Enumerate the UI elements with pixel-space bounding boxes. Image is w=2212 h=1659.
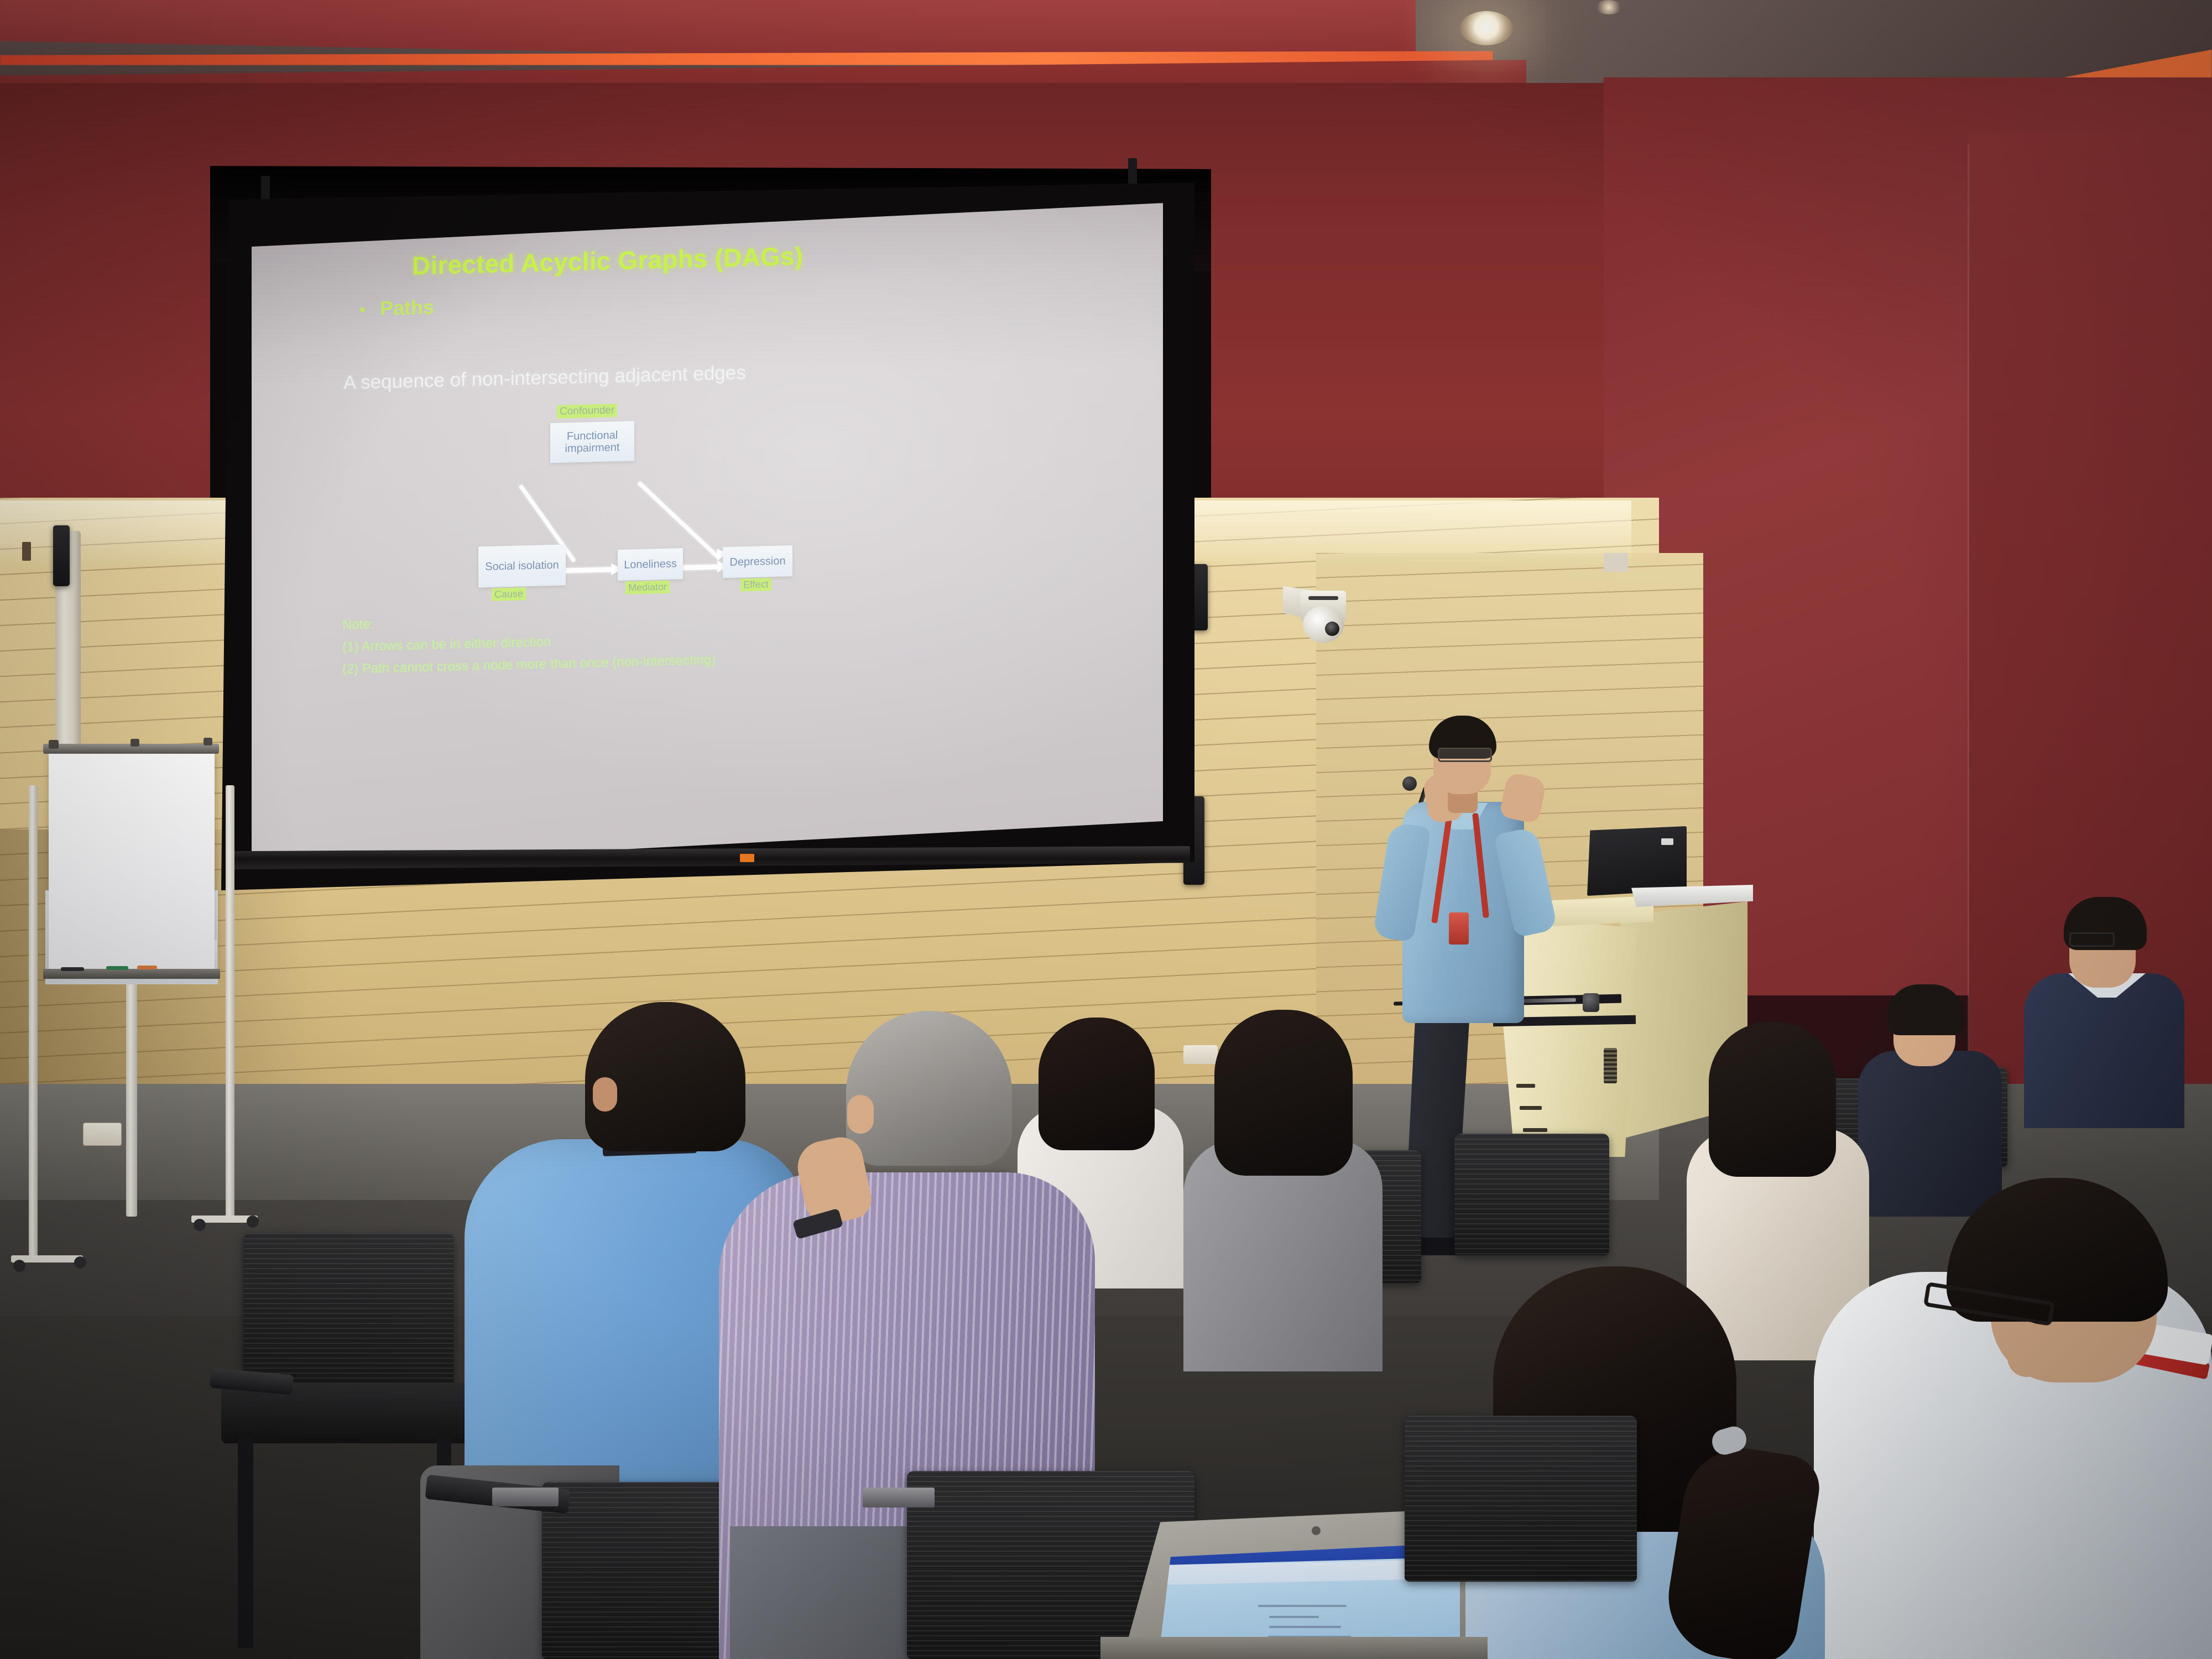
flipchart-caster (13, 1260, 25, 1272)
podium-control-knob[interactable] (1583, 993, 1599, 1012)
glasses-icon (2069, 932, 2115, 947)
flipchart-paper (49, 749, 215, 971)
dag-tag-effect: Effect (740, 578, 771, 591)
flipchart-leg-right (226, 785, 234, 1222)
chair-back[interactable] (1405, 1416, 1637, 1582)
edge-confounder-to-effect (638, 481, 720, 559)
hair (1709, 1022, 1836, 1177)
laptop-webcam-icon (1312, 1526, 1321, 1535)
dag-diagram: Confounder Functional impairment Social … (473, 403, 893, 635)
slide-note-heading: Note: (342, 617, 374, 633)
laptop-keyboard-deck (1100, 1637, 1488, 1659)
wall-switch-plate[interactable] (22, 542, 31, 561)
dag-tag-confounder: Confounder (557, 404, 617, 419)
slide-subtitle: A sequence of non-intersecting adjacent … (343, 362, 746, 394)
dag-node-social-isolation: Social isolation (478, 544, 566, 587)
shoulders (1858, 1051, 2002, 1217)
dag-node-loneliness: Loneliness (618, 548, 683, 581)
camera-lens-icon (1325, 622, 1339, 636)
presenter-badge (1449, 912, 1469, 945)
slide-bullet-marker (360, 307, 365, 312)
flipchart-caster (74, 1256, 86, 1269)
flipchart-clamp-knob[interactable] (49, 740, 59, 749)
chair-bracket (492, 1488, 559, 1506)
podium-vent (1523, 1128, 1547, 1132)
chair-bracket (863, 1488, 935, 1507)
marker-green[interactable] (106, 966, 128, 970)
document-line (1269, 1626, 1341, 1628)
microphone-icon (1402, 776, 1417, 791)
ceiling-downlight (1460, 11, 1513, 45)
dag-tag-mediator: Mediator (625, 581, 670, 594)
hair (585, 1002, 745, 1151)
flipchart-caster (194, 1219, 206, 1231)
chair-back[interactable] (1454, 1134, 1609, 1255)
power-socket[interactable] (83, 1123, 122, 1146)
document-line (1269, 1616, 1319, 1618)
flipchart-leg-left (29, 785, 38, 1261)
ear (593, 1077, 617, 1112)
hair (1887, 984, 1964, 1035)
podium-vent (1520, 1106, 1542, 1110)
power-socket[interactable] (1183, 1045, 1218, 1064)
flipchart-clamp-knob[interactable] (204, 738, 212, 745)
laptop-brand-badge-icon (1661, 838, 1673, 845)
slide-note-line-2: (2) Path cannot cross a node more than o… (342, 653, 716, 677)
hair (1039, 1018, 1155, 1150)
slide-bullet-paths: Paths (380, 296, 434, 320)
lecture-hall-photo: Directed Acyclic Graphs (DAGs) Paths A s… (0, 0, 2212, 1659)
wall-speaker-left (53, 525, 70, 586)
dag-node-depression: Depression (723, 545, 792, 578)
flipchart-clamp-knob[interactable] (131, 739, 139, 747)
podium-grille (1604, 1048, 1617, 1083)
slide-note-line-1: (1) Arrows can be in either direction (342, 634, 551, 655)
marker-black[interactable] (61, 967, 84, 971)
flipchart-caster (247, 1215, 259, 1228)
hair (1214, 1010, 1353, 1176)
marker-orange[interactable] (137, 966, 157, 969)
hair-grey (846, 1011, 1012, 1166)
ear (847, 1095, 874, 1134)
presenter-glasses-icon (1438, 748, 1492, 762)
projection-screen: Directed Acyclic Graphs (DAGs) Paths A s… (252, 203, 1163, 869)
dag-node-functional-impairment: Functional impairment (550, 421, 634, 463)
podium-vent (1516, 1084, 1535, 1088)
chair-leg (238, 1438, 253, 1648)
dag-tag-cause: Cause (492, 587, 526, 601)
ceiling-downlight-secondary (1595, 0, 1623, 14)
wall-control-box[interactable] (1604, 553, 1628, 572)
slide-title: Directed Acyclic Graphs (DAGs) (412, 241, 803, 281)
document-line (1258, 1605, 1347, 1607)
flipchart-post (126, 973, 137, 1217)
wall-seam (1968, 144, 1969, 1062)
ear (2007, 1322, 2046, 1377)
camera-vent (1308, 596, 1338, 600)
presenter-laptop[interactable] (1587, 826, 1687, 896)
screen-brand-logo-icon (740, 854, 754, 862)
